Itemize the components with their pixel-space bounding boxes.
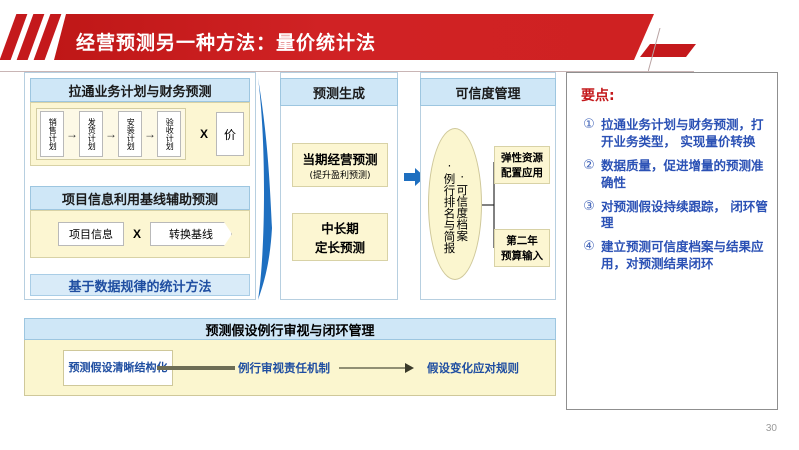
bottom-step-2: 例行审视责任机制 xyxy=(223,354,345,382)
chain-item-label: 安装计划 xyxy=(126,118,134,150)
forecast-longterm-title: 中长期 xyxy=(321,218,359,237)
chain-item-acceptance: 验收计划 xyxy=(157,111,181,157)
key-point-item: ② 数据质量，促进增量的预测准确性 xyxy=(577,158,773,192)
bottom-arrow-icon xyxy=(339,360,415,376)
key-point-item: ③ 对预测假设持续跟踪， 闭环管理 xyxy=(577,199,773,233)
key-points-list: ① 拉通业务计划与财务预测，打开业务类型， 实现量价转换 ② 数据质量，促进增量… xyxy=(577,117,773,280)
output-label-line1: 弹性资源 xyxy=(501,150,543,165)
baseline-conversion-box: 转换基线 xyxy=(150,222,232,246)
page-number: 30 xyxy=(766,423,777,434)
left-block1-header: 拉通业务计划与财务预测 xyxy=(30,78,250,102)
key-point-number: ① xyxy=(577,117,601,151)
bottom-step-3: 假设变化应对规则 xyxy=(411,354,535,382)
key-points-title: 要点: xyxy=(581,85,615,105)
output-box-elastic-resource: 弹性资源 配置应用 xyxy=(494,146,550,184)
right-column-header: 可信度管理 xyxy=(420,78,556,106)
chain-arrow-icon: → xyxy=(143,111,157,157)
bottom-band-header: 预测假设例行审视与闭环管理 xyxy=(24,318,556,340)
forecast-current-sub: (提升盈利预测) xyxy=(309,168,370,181)
key-point-item: ① 拉通业务计划与财务预测，打开业务类型， 实现量价转换 xyxy=(577,117,773,151)
multiply-symbol: X xyxy=(196,122,212,146)
forecast-current-title: 当期经营预测 xyxy=(302,149,377,168)
output-label-line2: 配置应用 xyxy=(501,165,543,180)
chain-item-label: 发货计划 xyxy=(87,118,95,150)
credibility-ellipse-line2: ·例行排名与简报 xyxy=(443,159,455,254)
left-footer-label: 基于数据规律的统计方法 xyxy=(68,276,211,295)
chain-item-sales: 销售计划 xyxy=(40,111,64,157)
output-label-line2: 预算输入 xyxy=(501,248,543,263)
chain-arrow-icon: → xyxy=(65,111,79,157)
key-point-number: ③ xyxy=(577,199,601,233)
key-point-number: ④ xyxy=(577,239,601,273)
left-footer-band: 基于数据规律的统计方法 xyxy=(30,274,250,296)
key-point-text: 拉通业务计划与财务预测，打开业务类型， 实现量价转换 xyxy=(601,117,773,151)
credibility-ellipse-line1: ·可信度档案 xyxy=(456,170,468,242)
project-info-box: 项目信息 xyxy=(58,222,124,246)
credibility-ellipse: ·可信度档案 ·例行排名与简报 xyxy=(428,128,482,280)
key-points-panel: 要点: ① 拉通业务计划与财务预测，打开业务类型， 实现量价转换 ② 数据质量，… xyxy=(566,72,778,410)
output-box-next-year-budget: 第二年 预算输入 xyxy=(494,229,550,267)
forecast-longterm-box: 中长期 定长预测 xyxy=(292,213,388,261)
forecast-current-box: 当期经营预测 (提升盈利预测) xyxy=(292,143,388,187)
chain-item-label: 验收计划 xyxy=(165,118,173,150)
multiply-symbol: X xyxy=(128,222,146,246)
title-banner: 经营预测另一种方法：量价统计法 xyxy=(0,14,799,60)
chain-item-label: 销售计划 xyxy=(48,118,56,150)
bottom-step-3-label: 假设变化应对规则 xyxy=(427,360,519,376)
chain-item-install: 安装计划 xyxy=(118,111,142,157)
key-point-text: 数据质量，促进增量的预测准确性 xyxy=(601,158,773,192)
key-point-text: 对预测假设持续跟踪， 闭环管理 xyxy=(601,199,773,233)
flow-arrow-icon xyxy=(254,78,276,300)
forecast-longterm-sub: 定长预测 xyxy=(315,237,365,256)
left-block2-header: 项目信息利用基线辅助预测 xyxy=(30,186,250,210)
chain-arrow-icon: → xyxy=(104,111,118,157)
middle-column-header: 预测生成 xyxy=(280,78,398,106)
slide-root: 经营预测另一种方法：量价统计法 拉通业务计划与财务预测 销售计划 → 发货计划 … xyxy=(0,0,799,450)
output-label-line1: 第二年 xyxy=(506,233,538,248)
bottom-step-1-label: 预测假设清晰结构化 xyxy=(69,361,168,375)
bottom-band: 预测假设例行审视与闭环管理 预测假设清晰结构化 例行审视责任机制 假设变化应对规… xyxy=(24,318,556,398)
key-point-item: ④ 建立预测可信度档案与结果应用，对预测结果闭环 xyxy=(577,239,773,273)
price-box: 价 xyxy=(216,112,244,156)
key-point-number: ② xyxy=(577,158,601,192)
key-point-text: 建立预测可信度档案与结果应用，对预测结果闭环 xyxy=(601,239,773,273)
chain-item-shipment: 发货计划 xyxy=(79,111,103,157)
page-title: 经营预测另一种方法：量价统计法 xyxy=(76,28,376,55)
bottom-band-body: 预测假设清晰结构化 例行审视责任机制 假设变化应对规则 xyxy=(24,340,556,396)
banner-diagonal-icon xyxy=(648,28,708,72)
bottom-step-2-label: 例行审视责任机制 xyxy=(238,360,330,376)
